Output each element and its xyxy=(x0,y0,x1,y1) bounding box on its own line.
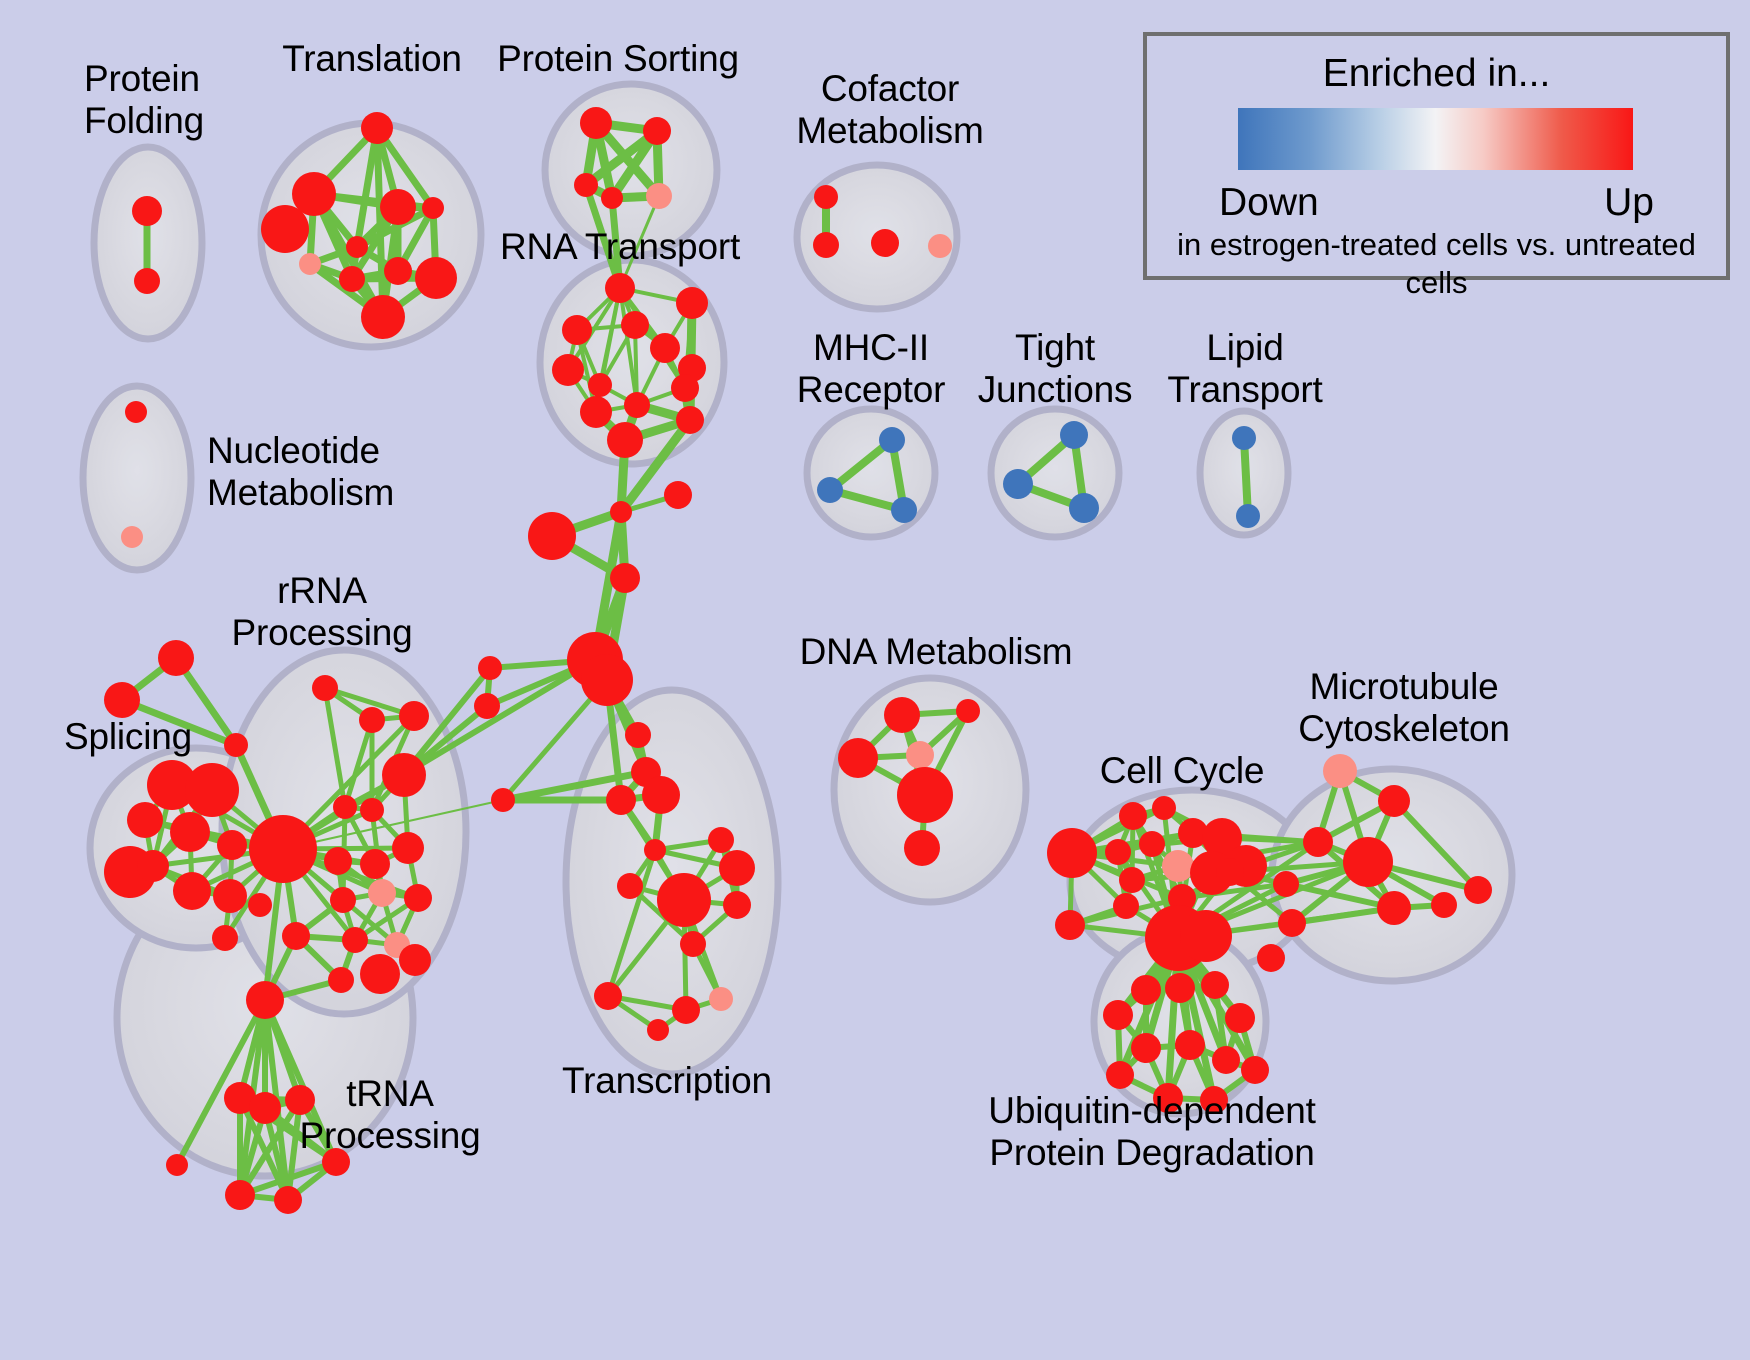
legend-down-label: Down xyxy=(1219,181,1319,225)
cluster-label-splicing: Splicing xyxy=(64,716,192,758)
cluster-label-tight-junctions: Tight Junctions xyxy=(978,327,1133,411)
cluster-label-trna-processing: tRNA Processing xyxy=(299,1073,480,1157)
legend-panel: Enriched in... Down Up in estrogen-treat… xyxy=(1143,32,1730,280)
color-scale-bar xyxy=(1238,108,1633,170)
cluster-label-rrna-processing: rRNA Processing xyxy=(231,570,412,654)
legend-title: Enriched in... xyxy=(1147,52,1726,96)
cluster-label-microtubule-cytoskeleton: Microtubule Cytoskeleton xyxy=(1298,666,1510,750)
cluster-label-cell-cycle: Cell Cycle xyxy=(1100,750,1265,792)
cluster-label-rna-transport: RNA Transport xyxy=(500,226,740,268)
cluster-label-protein-folding: Protein Folding xyxy=(84,58,204,142)
cluster-label-translation: Translation xyxy=(282,38,461,80)
cluster-label-transcription: Transcription xyxy=(562,1060,772,1102)
cluster-label-nucleotide-metabolism: Nucleotide Metabolism xyxy=(207,430,394,514)
legend-up-label: Up xyxy=(1604,181,1654,225)
cluster-label-mhc-ii-receptor: MHC-II Receptor xyxy=(797,327,946,411)
legend-subtitle: in estrogen-treated cells vs. untreated … xyxy=(1147,226,1726,302)
cluster-label-lipid-transport: Lipid Transport xyxy=(1167,327,1322,411)
cluster-label-cofactor-metabolism: Cofactor Metabolism xyxy=(796,68,983,152)
cluster-label-ubiquitin-protein-degradation: Ubiquitin-dependent Protein Degradation xyxy=(988,1090,1315,1174)
cluster-label-dna-metabolism: DNA Metabolism xyxy=(800,631,1073,673)
network-figure: Protein Folding Translation Protein Sort… xyxy=(0,0,1750,1360)
cluster-label-protein-sorting: Protein Sorting xyxy=(497,38,739,80)
cluster-mhc-ii-receptor xyxy=(807,409,935,537)
